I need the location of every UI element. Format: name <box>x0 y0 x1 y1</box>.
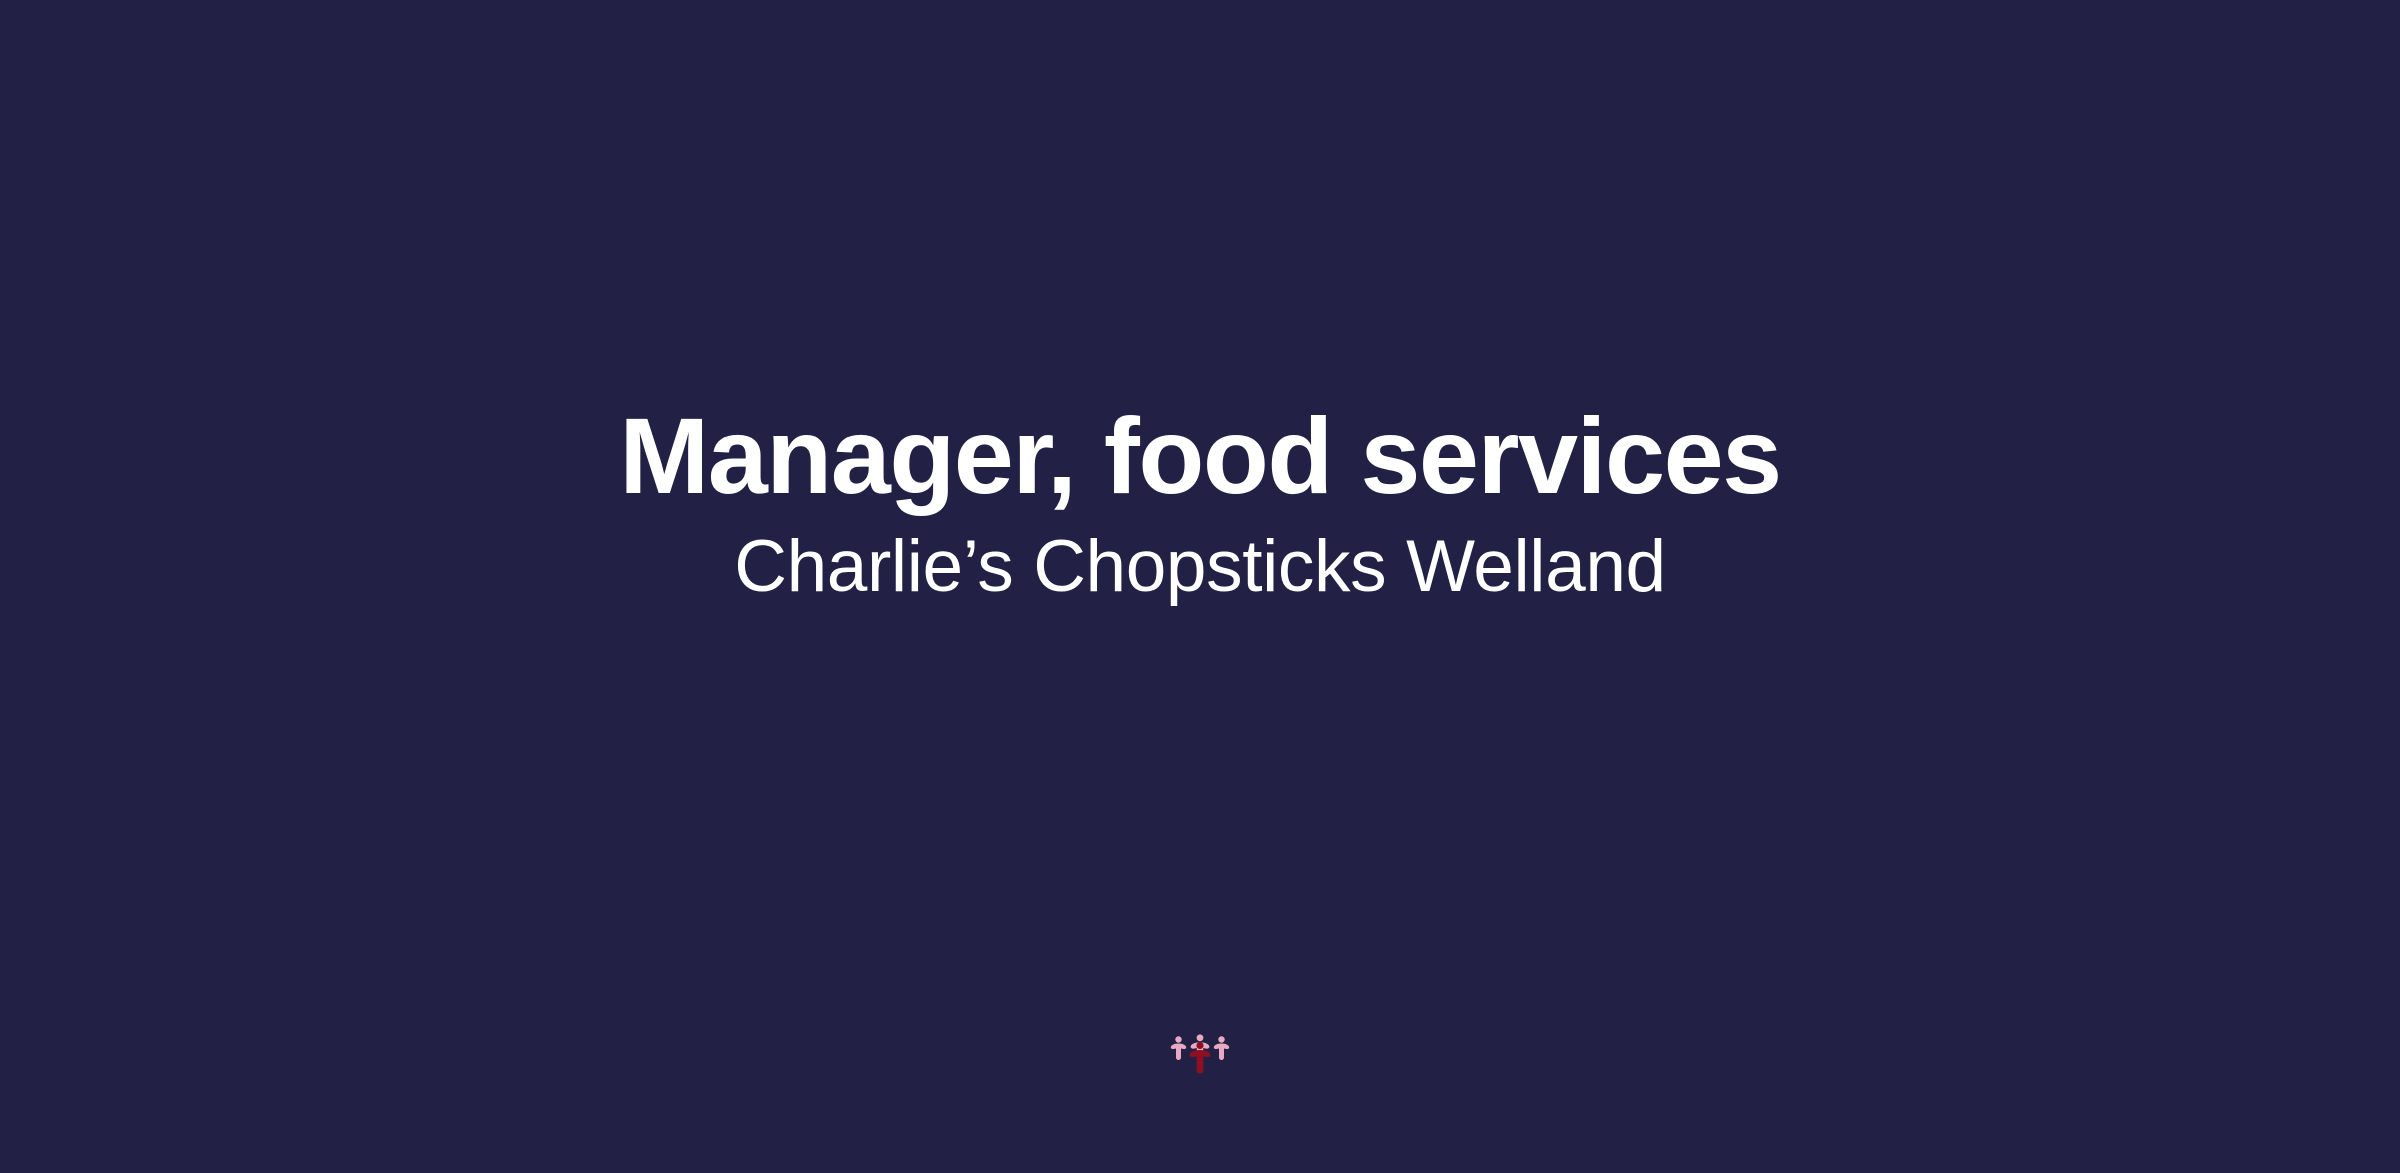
title-slide: Manager, food services Charlie’s Chopsti… <box>0 0 2400 1173</box>
headline-block: Manager, food services Charlie’s Chopsti… <box>0 0 2400 1173</box>
page-subtitle: Charlie’s Chopsticks Welland <box>734 510 1665 603</box>
page-title: Manager, food services <box>619 402 1781 510</box>
footer-logo <box>1140 1032 1260 1106</box>
three-figures-logo-icon <box>1169 1032 1231 1074</box>
